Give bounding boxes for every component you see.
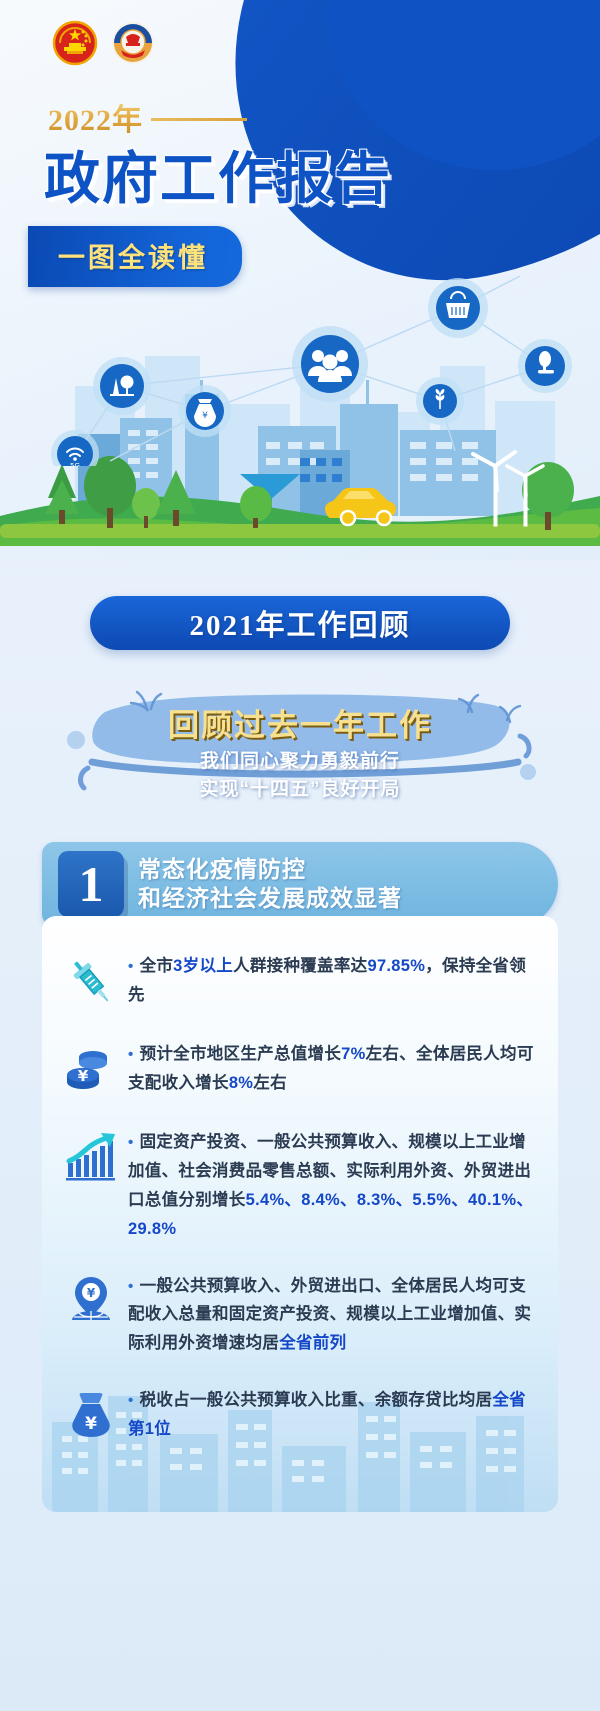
highlight-value: 3岁以上 [173, 957, 233, 975]
bullet-text: •税收占一般公共预算收入比重、余额存贷比均居全省第1位 [128, 1384, 536, 1444]
bullet-text: •预计全市地区生产总值增长7%左右、全体居民人均可支配收入增长8%左右 [128, 1038, 536, 1098]
global-yuan-icon: ¥ [60, 1270, 122, 1332]
highlight-value: 8% [229, 1074, 253, 1092]
review-banner-label: 2021年工作回顾 [189, 602, 410, 644]
medical-icon [518, 339, 572, 393]
review-subline-2: 实现“十四五”良好开局 [0, 774, 600, 801]
review-brush-block: 回顾过去一年工作 我们同心聚力勇毅前行 实现“十四五”良好开局 [0, 676, 600, 826]
year-rule [151, 118, 247, 121]
hero-section: 2022年 政府工作报告 一图全读懂 [0, 0, 600, 560]
section-1-number: 1 [79, 859, 104, 909]
year-label: 2022年 [48, 95, 143, 139]
section-1-title: 常态化疫情防控 和经济社会发展成效显著 [138, 855, 402, 913]
bullet-text-run: 预计全市地区生产总值增长 [140, 1045, 342, 1063]
svg-text:¥: ¥ [87, 1286, 96, 1300]
bullet-item: ¥•税收占一般公共预算收入比重、余额存贷比均居全省第1位 [60, 1384, 536, 1446]
emblem-group [52, 20, 156, 66]
section-1-header: 1 常态化疫情防控 和经济社会发展成效显著 [42, 842, 558, 926]
highlight-value: 7% [341, 1045, 365, 1063]
money-bag-yuan-icon: ¥ [60, 1384, 122, 1446]
bullet-text-run: 全市 [140, 957, 174, 975]
5g-signal-icon: 5G [51, 430, 99, 466]
bullet-dot: • [128, 1392, 134, 1409]
section-1-bullet-list: •全市3岁以上人群接种覆盖率达97.85%，保持全省领先 ¥•预计全市地区生产总… [60, 950, 536, 1446]
people-group-icon [292, 326, 368, 402]
cppcc-emblem [110, 20, 156, 66]
bullet-text-run: 左右 [253, 1074, 287, 1092]
year-row: 2022年 [48, 95, 247, 139]
section-1-title-line-2: 和经济社会发展成效显著 [138, 884, 402, 913]
review-brush-title: 回顾过去一年工作 [0, 700, 600, 745]
svg-text:¥: ¥ [202, 411, 208, 421]
syringe-icon [60, 950, 122, 1012]
highlight-value: 97.85% [367, 957, 425, 975]
highlight-value: 全省前列 [279, 1334, 346, 1352]
bullet-item: •固定资产投资、一般公共预算收入、规模以上工业增加值、社会消费品零售总额、实际利… [60, 1126, 536, 1244]
read-all-pill: 一图全读懂 [28, 226, 242, 287]
section-1-card: 1 常态化疫情防控 和经济社会发展成效显著 •全市3岁以上人群接种覆盖率达97.… [42, 842, 558, 1512]
bullet-dot: • [128, 1278, 134, 1295]
bullet-text: •一般公共预算收入、外贸进出口、全体居民人均可支配收入总量和固定资产投资、规模以… [128, 1270, 536, 1359]
signal-label: 5G [70, 462, 80, 466]
shopping-basket-icon [428, 278, 488, 338]
section-1-title-line-1: 常态化疫情防控 [138, 855, 402, 884]
bullet-text: •固定资产投资、一般公共预算收入、规模以上工业增加值、社会消费品零售总额、实际利… [128, 1126, 536, 1244]
bullet-text-run: 人群接种覆盖率达 [233, 957, 367, 975]
review-section: 2021年工作回顾 回顾过去一年工作 我们同心聚力勇毅前行 实现“十四五”良好开… [0, 560, 600, 826]
section-1-number-badge: 1 [58, 851, 124, 917]
money-bag-icon: ¥ [179, 385, 231, 437]
svg-text:¥: ¥ [78, 1067, 89, 1085]
bullet-dot: • [128, 958, 134, 975]
coins-yuan-icon: ¥ [60, 1038, 122, 1100]
page-title: 政府工作报告 [44, 134, 392, 215]
bullet-item: ¥ •一般公共预算收入、外贸进出口、全体居民人均可支配收入总量和固定资产投资、规… [60, 1270, 536, 1359]
growth-chart-icon [60, 1126, 122, 1188]
bullet-text: •全市3岁以上人群接种覆盖率达97.85%，保持全省领先 [128, 950, 536, 1010]
infographic-page: 2022年 政府工作报告 一图全读懂 [0, 0, 600, 1711]
svg-text:¥: ¥ [85, 1414, 97, 1434]
wheat-icon [416, 377, 464, 425]
bullet-dot: • [128, 1046, 134, 1063]
read-all-label: 一图全读懂 [58, 243, 208, 273]
review-subline-1: 我们同心聚力勇毅前行 [0, 746, 600, 773]
bullet-dot: • [128, 1134, 134, 1151]
bullet-item: ¥•预计全市地区生产总值增长7%左右、全体居民人均可支配收入增长8%左右 [60, 1038, 536, 1100]
section-1-body: •全市3岁以上人群接种覆盖率达97.85%，保持全省领先 ¥•预计全市地区生产总… [42, 916, 558, 1512]
industry-icon [93, 357, 151, 415]
review-banner: 2021年工作回顾 [90, 596, 510, 650]
bullet-text-run: 税收占一般公共预算收入比重、余额存贷比均居 [140, 1391, 493, 1409]
bullet-item: •全市3岁以上人群接种覆盖率达97.85%，保持全省领先 [60, 950, 536, 1012]
national-emblem-prc [52, 20, 98, 66]
